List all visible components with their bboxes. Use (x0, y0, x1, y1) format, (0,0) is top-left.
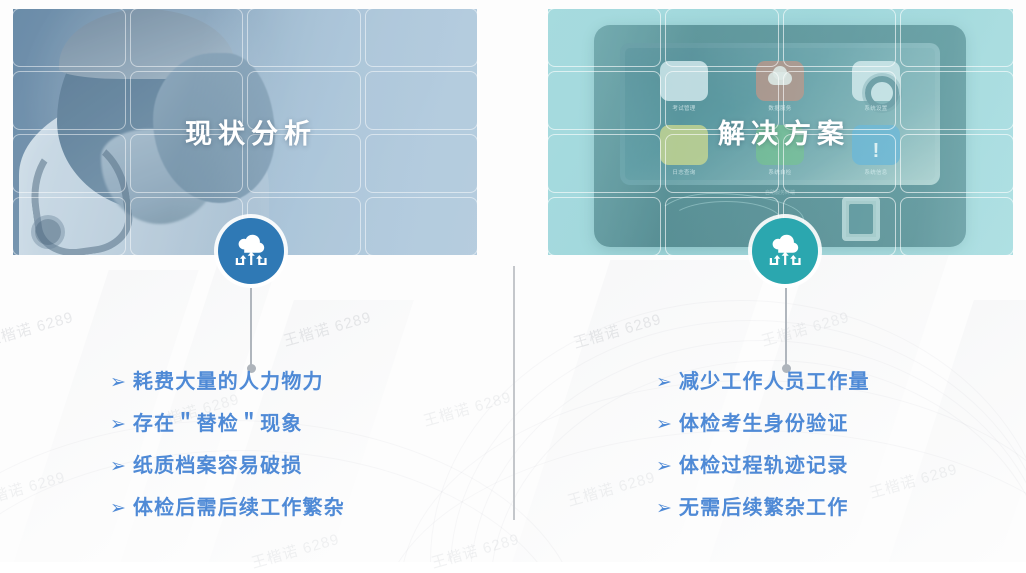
bullet-arrow-icon: ➢ (656, 373, 672, 392)
list-item[interactable]: ➢ 纸质档案容易破损 (110, 456, 345, 476)
grid-cell (13, 135, 125, 192)
list-item[interactable]: ➢ 体检过程轨迹记录 (656, 456, 870, 476)
list-item[interactable]: ➢ 体检后需后续工作繁杂 (110, 498, 345, 518)
grid-cell (248, 9, 360, 66)
list-item[interactable]: ➢ 耗费大量的人力物力 (110, 372, 345, 392)
grid-cell (13, 9, 125, 66)
grid-cell (548, 9, 660, 66)
grid-cell (366, 198, 478, 255)
bullet-arrow-icon: ➢ (110, 499, 126, 518)
list-item-label: 体检后需后续工作繁杂 (133, 498, 345, 518)
grid-cell (901, 9, 1013, 66)
list-item-label: 体检过程轨迹记录 (679, 456, 849, 476)
cloud-transfer-icon (233, 234, 269, 268)
bullet-arrow-icon: ➢ (656, 415, 672, 434)
grid-cell (548, 198, 660, 255)
bullet-arrow-icon: ➢ (110, 457, 126, 476)
cloud-transfer-icon (767, 234, 803, 268)
right-section-bullet-list: ➢ 减少工作人员工作量 ➢ 体检考生身份验证 ➢ 体检过程轨迹记录 ➢ 无需后续… (656, 372, 870, 540)
bullet-arrow-icon: ➢ (656, 499, 672, 518)
right-section-title: 解决方案 (718, 112, 1026, 151)
center-divider (513, 266, 515, 520)
grid-cell (13, 198, 125, 255)
grid-cell (13, 72, 125, 129)
right-section-badge[interactable] (752, 218, 818, 284)
list-item-label: 耗费大量的人力物力 (133, 372, 324, 392)
left-section-bullet-list: ➢ 耗费大量的人力物力 ➢ 存在＂替检＂现象 ➢ 纸质档案容易破损 ➢ 体检后需… (110, 372, 345, 540)
grid-cell (666, 9, 778, 66)
list-item-label: 无需后续繁杂工作 (679, 498, 849, 518)
connector-line (250, 288, 252, 366)
connector-line (785, 288, 787, 366)
list-item-label: 体检考生身份验证 (679, 414, 849, 434)
list-item[interactable]: ➢ 存在＂替检＂现象 (110, 414, 345, 434)
bullet-arrow-icon: ➢ (110, 373, 126, 392)
list-item[interactable]: ➢ 无需后续繁杂工作 (656, 498, 870, 518)
list-item[interactable]: ➢ 减少工作人员工作量 (656, 372, 870, 392)
list-item-label: 减少工作人员工作量 (679, 372, 870, 392)
grid-cell (366, 9, 478, 66)
grid-cell (131, 9, 243, 66)
list-item-label: 纸质档案容易破损 (133, 456, 303, 476)
bullet-arrow-icon: ➢ (110, 415, 126, 434)
left-section-badge[interactable] (218, 218, 284, 284)
bullet-arrow-icon: ➢ (656, 457, 672, 476)
grid-cell (784, 9, 896, 66)
list-item-label: 存在＂替检＂现象 (133, 414, 303, 434)
list-item[interactable]: ➢ 体检考生身份验证 (656, 414, 870, 434)
grid-cell (901, 198, 1013, 255)
